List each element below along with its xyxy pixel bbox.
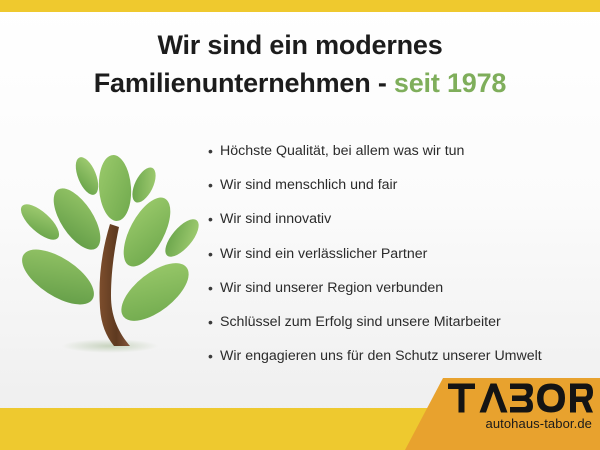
- list-item: • Wir engagieren uns für den Schutz unse…: [208, 346, 596, 366]
- logo-tagline: autohaus-tabor.de: [395, 416, 600, 431]
- list-item: • Wir sind unserer Region verbunden: [208, 278, 596, 298]
- list-item-label: Wir sind ein verlässlicher Partner: [220, 244, 427, 264]
- list-item: • Höchste Qualität, bei allem was wir tu…: [208, 141, 596, 161]
- bullet-marker-icon: •: [208, 209, 220, 229]
- list-item: • Wir sind menschlich und fair: [208, 175, 596, 195]
- list-item-label: Höchste Qualität, bei allem was wir tun: [220, 141, 464, 161]
- top-gold-bar: [0, 0, 600, 12]
- list-item-label: Wir sind unserer Region verbunden: [220, 278, 443, 298]
- tree-illustration: [14, 132, 204, 360]
- list-item: • Schlüssel zum Erfolg sind unsere Mitar…: [208, 312, 596, 332]
- bullet-marker-icon: •: [208, 278, 220, 298]
- headline-line-2: Familienunternehmen - seit 1978: [0, 64, 600, 102]
- page-title: Wir sind ein modernes Familienunternehme…: [0, 26, 600, 103]
- brand-logo[interactable]: autohaus-tabor.de: [395, 378, 600, 450]
- headline-line-2-main: Familienunternehmen -: [94, 68, 394, 98]
- bullet-marker-icon: •: [208, 312, 220, 332]
- tabor-wordmark: [448, 383, 593, 413]
- tree-shadow: [62, 339, 158, 353]
- list-item-label: Wir engagieren uns für den Schutz unsere…: [220, 346, 542, 366]
- list-item-label: Schlüssel zum Erfolg sind unsere Mitarbe…: [220, 312, 501, 332]
- leaf-top-left: [71, 154, 103, 198]
- list-item: • Wir sind innovativ: [208, 209, 596, 229]
- bullet-marker-icon: •: [208, 346, 220, 366]
- slide-canvas: Wir sind ein modernes Familienunternehme…: [0, 0, 600, 450]
- list-item: • Wir sind ein verlässlicher Partner: [208, 244, 596, 264]
- bullet-marker-icon: •: [208, 141, 220, 161]
- list-item-label: Wir sind innovativ: [220, 209, 331, 229]
- leaf-top-center: [97, 154, 134, 222]
- list-item-label: Wir sind menschlich und fair: [220, 175, 397, 195]
- leaf-lower-right: [112, 252, 198, 331]
- bullet-marker-icon: •: [208, 244, 220, 264]
- bullet-marker-icon: •: [208, 175, 220, 195]
- value-bullet-list: • Höchste Qualität, bei allem was wir tu…: [208, 141, 596, 380]
- leaf-lower-left: [14, 239, 103, 316]
- headline-line-1: Wir sind ein modernes: [0, 26, 600, 64]
- headline-accent-year: seit 1978: [394, 68, 506, 98]
